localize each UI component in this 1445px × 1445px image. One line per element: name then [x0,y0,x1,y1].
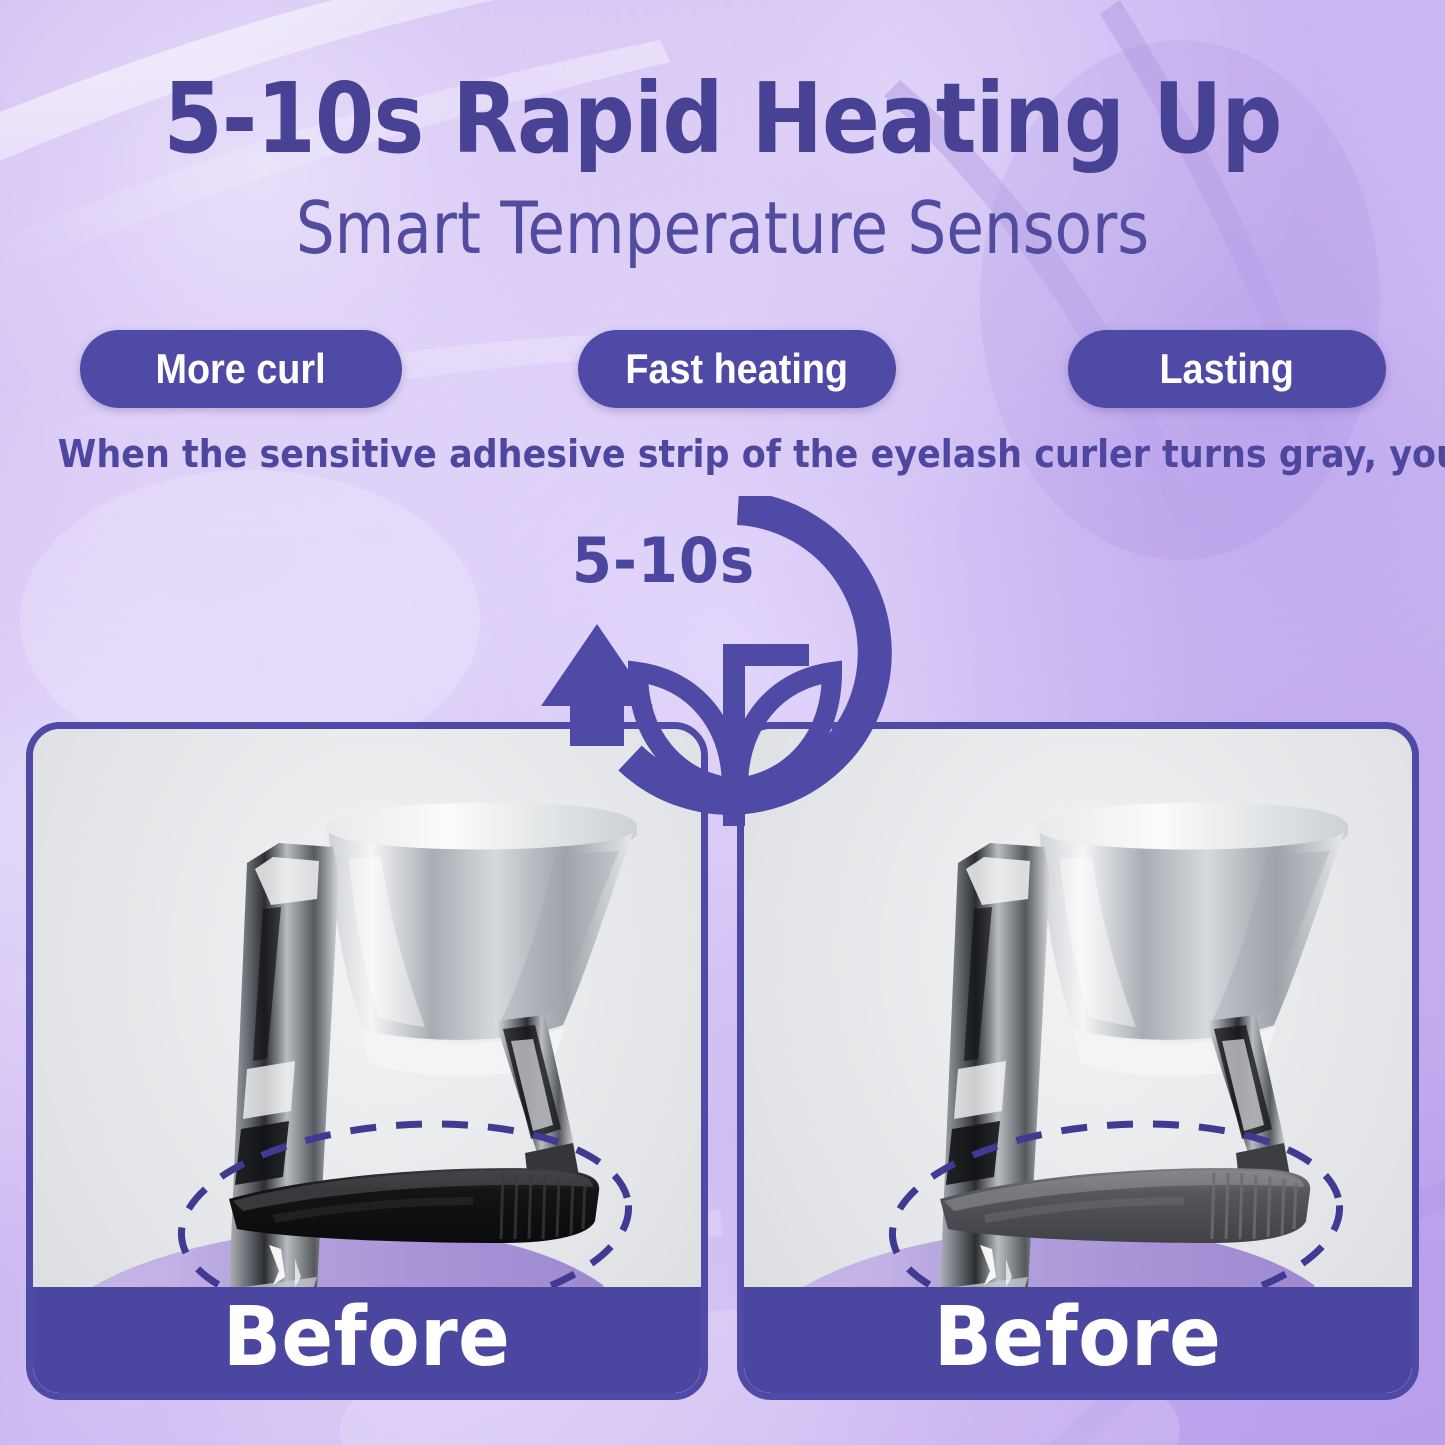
panel-caption-before-left: Before [33,1287,701,1393]
page-subtitle: Smart Temperature Sensors [108,186,1336,270]
feature-badge-label: Lasting [1160,345,1294,393]
feature-badge-label: Fast heating [626,345,849,393]
panel-caption-label: Before [223,1290,511,1385]
panel-caption-label: Before [934,1290,1222,1385]
feature-badge-more-curl[interactable]: More curl [80,330,402,408]
page-title: 5-10s Rapid Heating Up [87,62,1359,175]
feature-badge-fast-heating[interactable]: Fast heating [578,330,896,408]
product-marketing-poster: 5-10s Rapid Heating Up Smart Temperature… [0,0,1445,1445]
feature-badge-lasting[interactable]: Lasting [1068,330,1386,408]
heating-time-label: 5-10s [572,524,755,597]
feature-badge-label: More curl [156,345,326,393]
panel-caption-before-right: Before [744,1287,1412,1393]
feature-badge-row: More curl Fast heating Lasting [72,330,1372,408]
instruction-caption: When the sensitive adhesive strip of the… [58,432,1387,476]
